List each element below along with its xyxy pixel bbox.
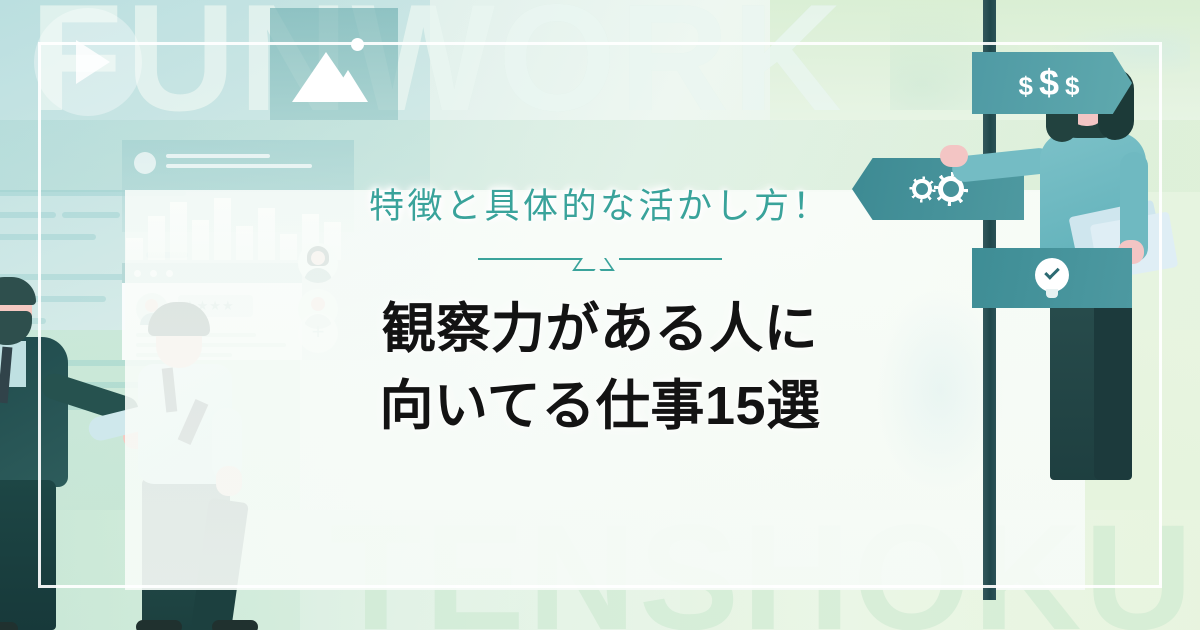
page-title: 観察力がある人に 向いてる仕事15選 — [0, 291, 1200, 444]
chevron-down-divider-icon — [478, 249, 722, 275]
title-line-2: 向いてる仕事15選 — [0, 368, 1200, 445]
title-line-1: 観察力がある人に — [0, 291, 1200, 368]
text-block: 特徴と具体的な活かし方！ 観察力がある人に 向いてる仕事15選 — [0, 178, 1200, 444]
subtitle: 特徴と具体的な活かし方！ — [0, 178, 1200, 229]
thumbnail-canvas: FUNWORK FUNWORK TENSHOKU — [0, 0, 1200, 630]
